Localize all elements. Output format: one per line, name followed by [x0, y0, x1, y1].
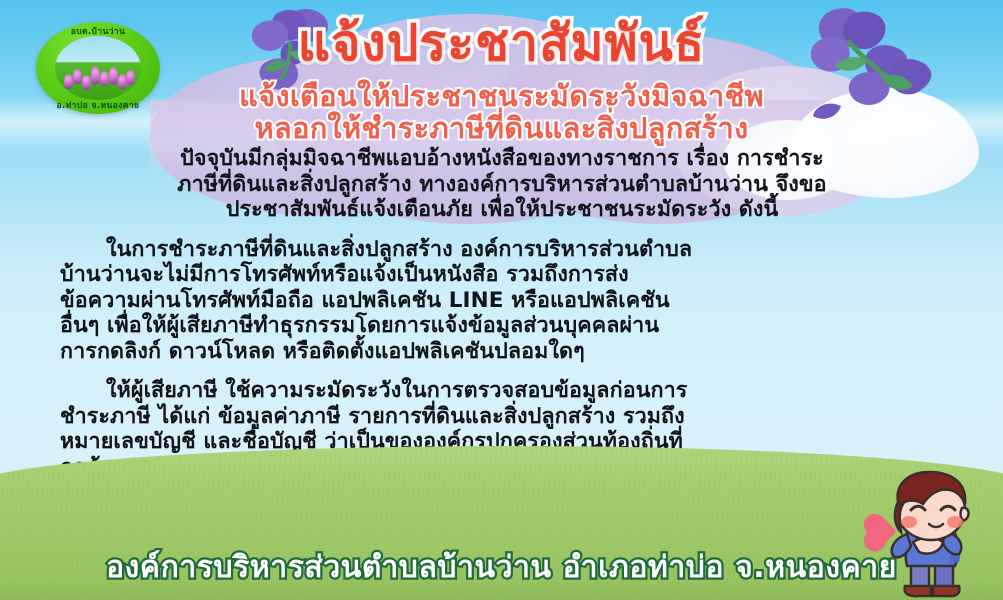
paragraph-intro: ปัจจุบันมีกลุ่มมิจฉาชีพแอบอ้างหนังสือของ… [22, 146, 982, 223]
cartoon-boy-wai [849, 468, 999, 600]
body-line: การกดลิงก์ ดาวน์โหลด หรือติดตั้งแอปพลิเค… [60, 339, 944, 365]
body-line: ชำระภาษี ได้แก่ ข้อมูลค่าภาษี รายการที่ด… [60, 404, 944, 430]
body-line: ปัจจุบันมีกลุ่มมิจฉาชีพแอบอ้างหนังสือของ… [22, 146, 982, 172]
page-title: แจ้งประชาสัมพันธ์ [0, 16, 1003, 70]
body-line: ข้อความผ่านโทรศัพท์มือถือ แอปพลิเคชัน LI… [60, 288, 944, 314]
body-line: ให้ผู้เสียภาษี ใช้ความระมัดระวังในการตรว… [60, 378, 944, 404]
body-line: ในการชำระภาษีที่ดินและสิ่งปลูกสร้าง องค์… [60, 237, 944, 263]
body-line: ภาษีที่ดินและสิ่งปลูกสร้าง ทางองค์การบริ… [22, 172, 982, 198]
subtitle-line-1: แจ้งเตือนให้ประชาชนระมัดระวังมิจฉาชีพ [0, 80, 1003, 113]
body-line: อื่นๆ เพื่อให้ผู้เสียภาษีทำธุรกรรมโดยการ… [60, 313, 944, 339]
announcement-poster: อบต.บ้านว่าน อ.ท่าบ่อ จ.หนองคาย แจ้งประช… [0, 0, 1003, 600]
paragraph-warning: ในการชำระภาษีที่ดินและสิ่งปลูกสร้าง องค์… [22, 237, 982, 365]
body-line: บ้านว่านจะไม่มีการโทรศัพท์หรือแจ้งเป็นหน… [60, 262, 944, 288]
body-line: ประชาสัมพันธ์แจ้งเตือนภัย เพื่อให้ประชาช… [22, 197, 982, 223]
announcement-body: ปัจจุบันมีกลุ่มมิจฉาชีพแอบอ้างหนังสือของ… [22, 146, 982, 494]
subtitle-line-2: หลอกให้ชำระภาษีที่ดินและสิ่งปลูกสร้าง [0, 112, 1003, 145]
